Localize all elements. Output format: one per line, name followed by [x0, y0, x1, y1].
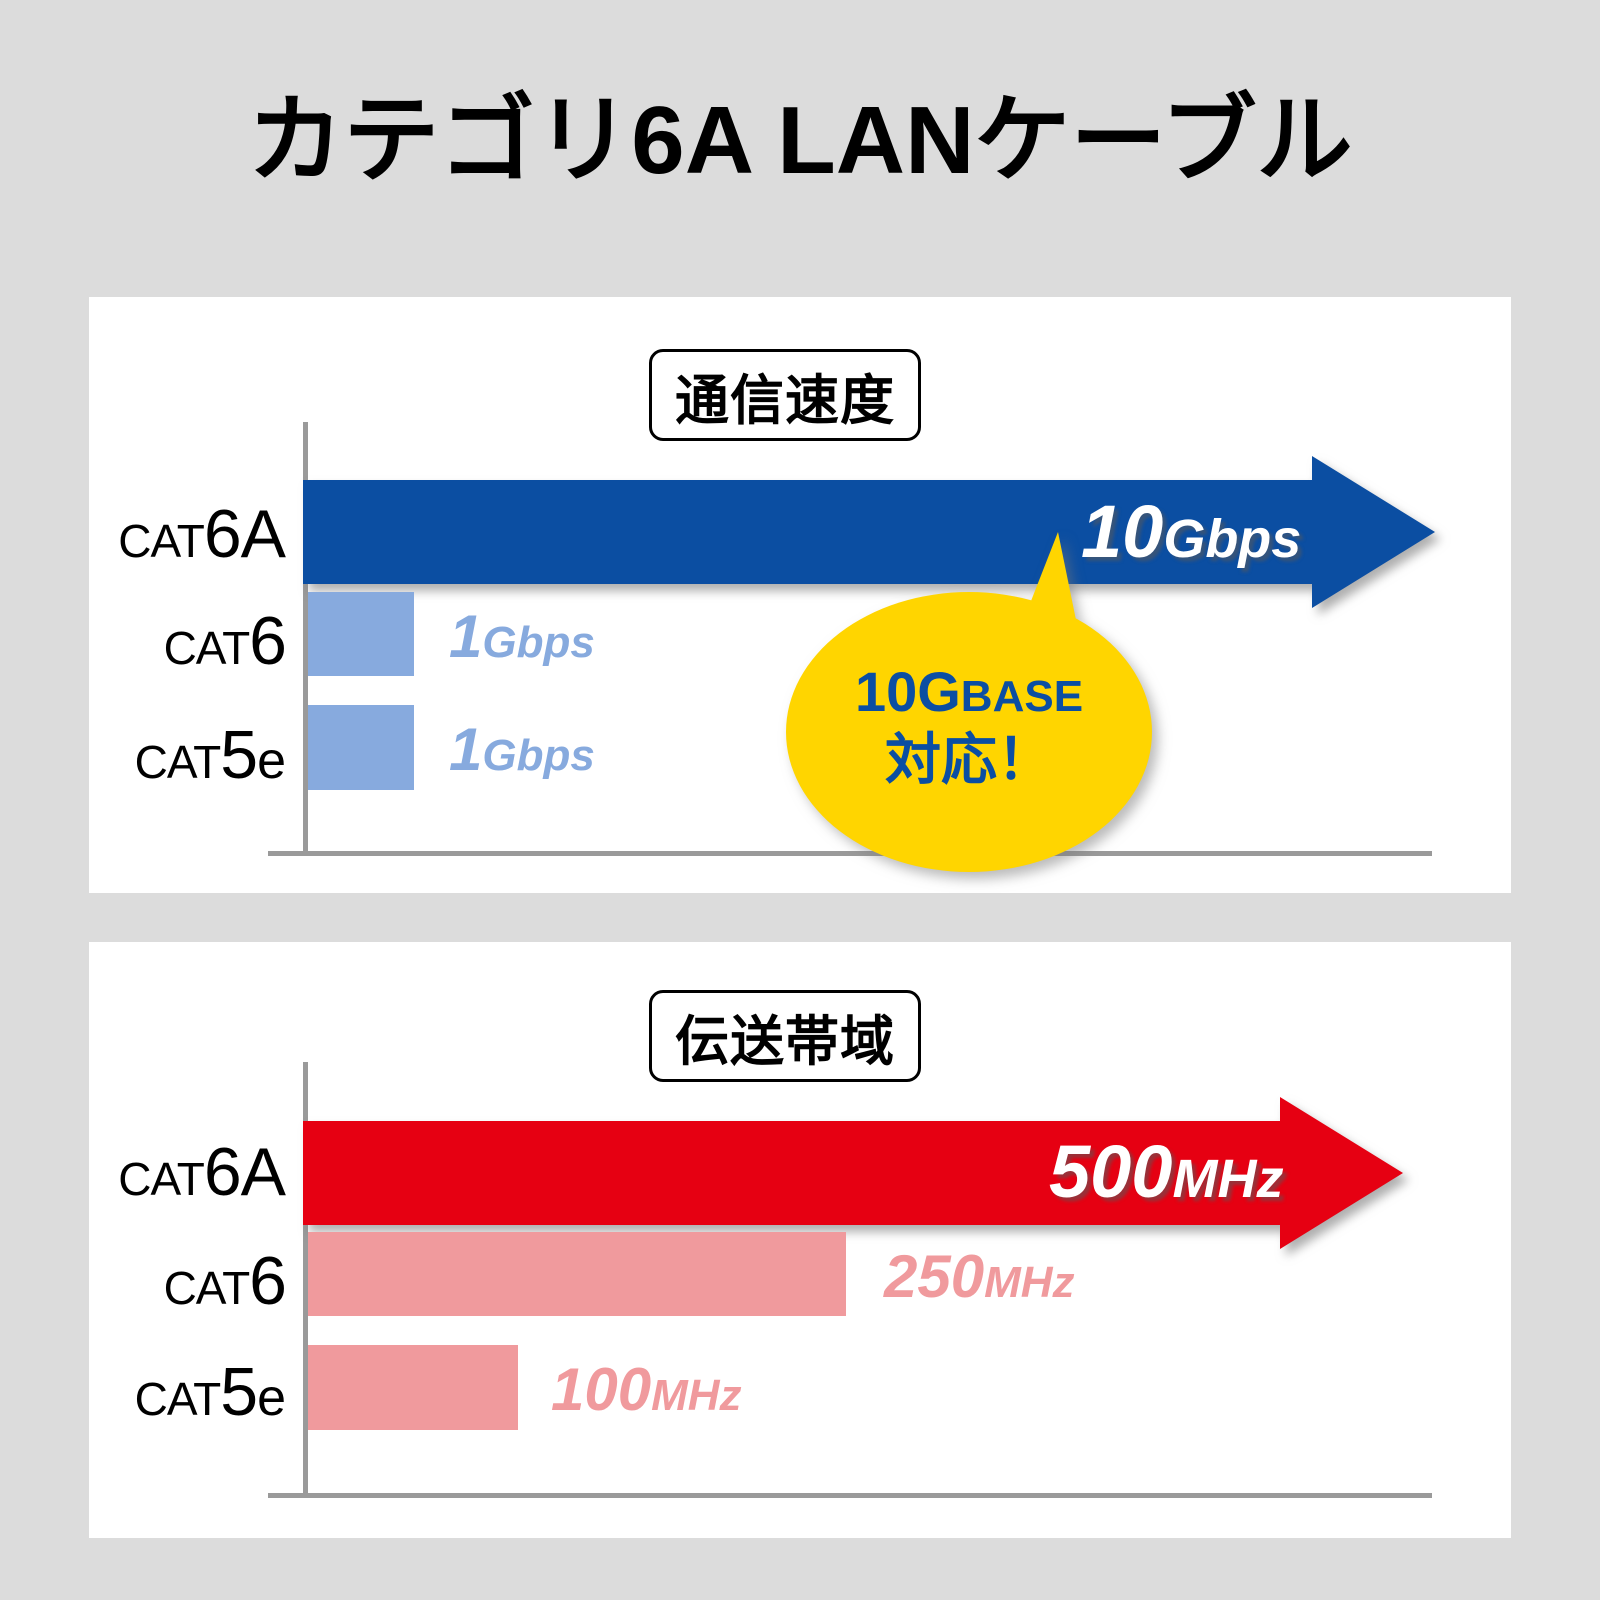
value-unit: MHz: [1172, 1149, 1283, 1209]
category-number: 5: [220, 717, 257, 793]
bar-cat5e-speed: [308, 705, 414, 790]
category-label-cat6a-bandwidth: CAT6A: [28, 1138, 286, 1206]
value-unit: MHz: [651, 1371, 741, 1420]
category-label-cat5e-bandwidth: CAT5e: [28, 1358, 286, 1426]
category-suffix: A: [241, 1134, 286, 1210]
bar-value-cat5e-speed: 1Gbps: [449, 720, 595, 780]
value-unit: MHz: [984, 1258, 1074, 1307]
section-caption-communication-speed: 通信速度: [649, 349, 921, 441]
page-title: カテゴリ6A LANケーブル: [0, 88, 1600, 194]
value-number: 500: [1049, 1130, 1172, 1213]
value-unit: Gbps: [1163, 509, 1301, 569]
category-prefix: CAT: [135, 736, 221, 788]
bar-value-cat6-speed: 1Gbps: [449, 607, 595, 667]
value-unit: Gbps: [482, 731, 594, 780]
category-number: 6: [204, 496, 241, 572]
bar-value-cat5e-bandwidth: 100MHz: [551, 1360, 742, 1420]
category-suffix: e: [257, 1369, 286, 1427]
category-label-cat5e-speed: CAT5e: [28, 721, 286, 789]
bar-value-cat6a-bandwidth: 500MHz: [1049, 1135, 1283, 1209]
bar-cat6-bandwidth: [308, 1232, 846, 1316]
category-prefix: CAT: [135, 1373, 221, 1425]
speech-bubble-shape: [786, 524, 1152, 876]
x-axis-line-bandwidth: [268, 1493, 1432, 1498]
value-number: 250: [884, 1243, 984, 1310]
category-prefix: CAT: [164, 622, 250, 674]
value-number: 100: [551, 1356, 651, 1423]
category-suffix: e: [257, 732, 286, 790]
category-number: 6: [249, 603, 286, 679]
category-prefix: CAT: [118, 1153, 204, 1205]
category-number: 6: [204, 1134, 241, 1210]
category-number: 6: [249, 1243, 286, 1319]
callout-bubble-10gbase: [786, 524, 1152, 876]
category-prefix: CAT: [118, 515, 204, 567]
category-label-cat6-bandwidth: CAT6: [28, 1247, 286, 1315]
value-number: 1: [449, 716, 482, 783]
bar-cat5e-bandwidth: [308, 1345, 518, 1430]
bar-cat6-speed: [308, 592, 414, 676]
section-caption-transmission-bandwidth: 伝送帯域: [649, 990, 921, 1082]
bar-value-cat6-bandwidth: 250MHz: [884, 1247, 1075, 1307]
category-label-cat6-speed: CAT6: [28, 607, 286, 675]
value-number: 1: [449, 603, 482, 670]
category-suffix: A: [241, 496, 286, 572]
value-unit: Gbps: [482, 618, 594, 667]
category-prefix: CAT: [164, 1262, 250, 1314]
category-label-cat6a-speed: CAT6A: [28, 500, 286, 568]
category-number: 5: [220, 1354, 257, 1430]
